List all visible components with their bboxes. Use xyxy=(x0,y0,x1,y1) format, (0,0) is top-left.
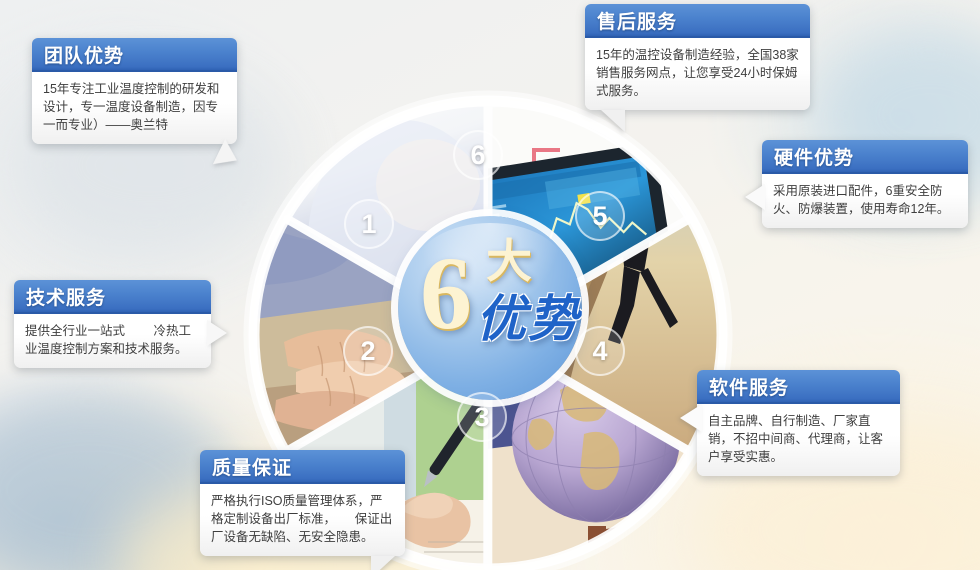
callout-hardware-title: 硬件优势 xyxy=(774,143,854,170)
center-word-script: 优势 xyxy=(476,294,580,344)
callout-after-sales-title: 售后服务 xyxy=(597,7,677,34)
callout-tech-title: 技术服务 xyxy=(26,283,106,310)
callout-quality-header: 质量保证 xyxy=(200,450,405,484)
callout-software-title: 软件服务 xyxy=(709,373,789,400)
segment-marker-5[interactable]: 5 xyxy=(575,191,625,241)
callout-software-service[interactable]: 软件服务 自主品牌、自行制造、厂家直销，不招中间商、代理商，让客户享受实惠。 xyxy=(697,370,900,476)
callout-after-sales-tail xyxy=(601,110,625,132)
segment-marker-3-label: 3 xyxy=(474,402,489,433)
callout-software-tail xyxy=(680,404,702,432)
callout-hardware-advantage[interactable]: 硬件优势 采用原装进口配件，6重安全防火、防爆装置，使用寿命12年。 xyxy=(762,140,968,228)
segment-marker-4-label: 4 xyxy=(592,336,607,367)
segment-marker-4[interactable]: 4 xyxy=(575,326,625,376)
callout-tech-tail xyxy=(207,320,227,346)
callout-after-sales-text: 15年的温控设备制造经验，全国38家销售服务网点，让您享受24小时保姆式服务。 xyxy=(585,38,810,110)
center-badge: 6 大 优势 xyxy=(398,216,582,400)
segment-marker-6-label: 6 xyxy=(470,140,485,171)
callout-hardware-tail xyxy=(745,184,765,210)
callout-software-text: 自主品牌、自行制造、厂家直销，不招中间商、代理商，让客户享受实惠。 xyxy=(697,404,900,476)
callout-software-header: 软件服务 xyxy=(697,370,900,404)
callout-team-header: 团队优势 xyxy=(32,38,237,72)
segment-marker-5-label: 5 xyxy=(592,201,607,232)
callout-tech-header: 技术服务 xyxy=(14,280,211,314)
callout-tech-service[interactable]: 技术服务 提供全行业一站式 冷热工业温度控制方案和技术服务。 xyxy=(14,280,211,368)
callout-after-sales-service[interactable]: 售后服务 15年的温控设备制造经验，全国38家销售服务网点，让您享受24小时保姆… xyxy=(585,4,810,110)
callout-hardware-header: 硬件优势 xyxy=(762,140,968,174)
callout-quality-text: 严格执行ISO质量管理体系，严格定制设备出厂标准， 保证出厂设备无缺陷、无安全隐… xyxy=(200,484,405,556)
callout-after-sales-header: 售后服务 xyxy=(585,4,810,38)
callout-team-title: 团队优势 xyxy=(44,41,124,68)
callout-team-text: 15年专注工业温度控制的研发和设计，专一温度设备制造，因专一而专业）——奥兰特 xyxy=(32,72,237,144)
segment-marker-2-label: 2 xyxy=(360,336,375,367)
callout-hardware-text: 采用原装进口配件，6重安全防火、防爆装置，使用寿命12年。 xyxy=(762,174,968,228)
callout-quality-guarantee[interactable]: 质量保证 严格执行ISO质量管理体系，严格定制设备出厂标准， 保证出厂设备无缺陷… xyxy=(200,450,405,556)
segment-marker-1-label: 1 xyxy=(361,209,376,240)
callout-quality-tail xyxy=(371,556,395,570)
segment-marker-2[interactable]: 2 xyxy=(343,326,393,376)
segment-marker-1[interactable]: 1 xyxy=(344,199,394,249)
center-word-big: 大 xyxy=(486,238,532,284)
center-number: 6 xyxy=(420,242,472,346)
segment-marker-3[interactable]: 3 xyxy=(457,392,507,442)
segment-marker-6[interactable]: 6 xyxy=(453,130,503,180)
callout-team-advantage[interactable]: 团队优势 15年专注工业温度控制的研发和设计，专一温度设备制造，因专一而专业）—… xyxy=(32,38,237,144)
callout-quality-title: 质量保证 xyxy=(212,453,292,480)
callout-tech-text: 提供全行业一站式 冷热工业温度控制方案和技术服务。 xyxy=(14,314,211,368)
